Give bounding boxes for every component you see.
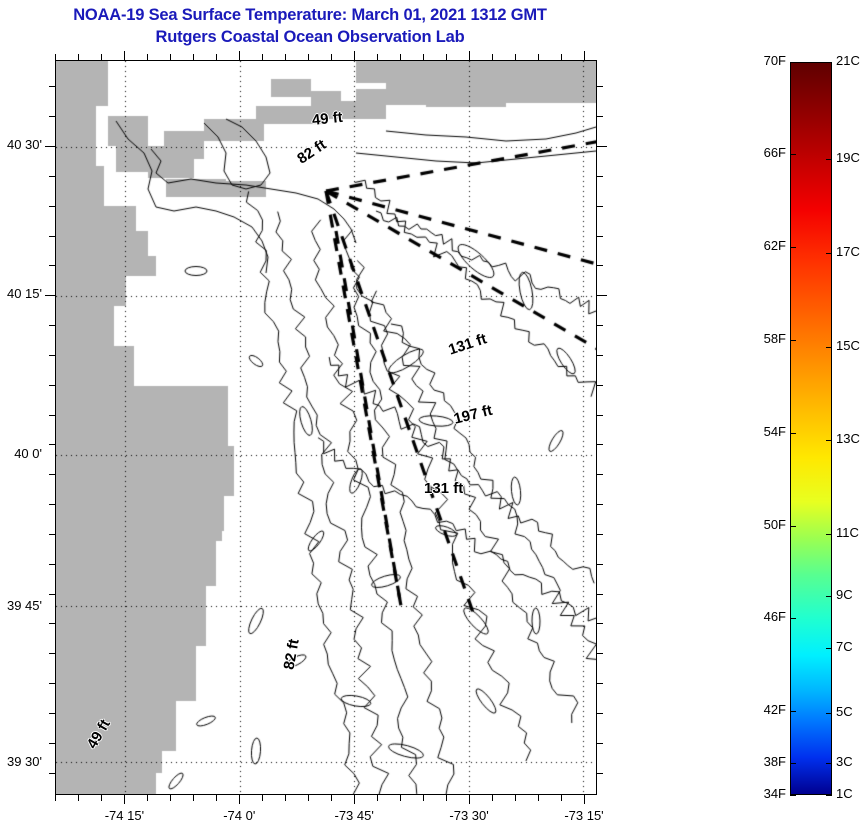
x-axis-label: -74 15' (84, 808, 164, 823)
x-axis-label: -73 45' (314, 808, 394, 823)
y-axis-tick (597, 534, 603, 535)
x-axis-tick (101, 795, 102, 801)
x-axis-tick (262, 795, 263, 801)
x-axis-tick (561, 795, 562, 801)
y-axis-tick (597, 623, 603, 624)
colorbar-tick-f (790, 340, 796, 341)
x-axis-tick (170, 795, 171, 801)
x-axis-tick (78, 795, 79, 801)
colorbar-tick-c (826, 253, 832, 254)
x-axis-tick (446, 54, 447, 60)
y-axis-tick (49, 415, 55, 416)
y-axis-tick (597, 295, 607, 296)
x-axis-tick (55, 795, 56, 801)
colorbar-label-celsius: 5C (836, 704, 853, 719)
y-axis-tick (45, 146, 55, 147)
colorbar-tick-f (790, 247, 796, 248)
colorbar-label-fahrenheit: 46F (742, 609, 786, 624)
colorbar-label-celsius: 13C (836, 431, 860, 446)
y-axis-tick (597, 683, 603, 684)
x-axis-tick (308, 54, 309, 60)
colorbar-label-fahrenheit: 38F (742, 754, 786, 769)
colorbar-tick-c (826, 648, 832, 649)
y-axis-tick (49, 713, 55, 714)
colorbar-label-celsius: 3C (836, 754, 853, 769)
x-axis-label: -74 0' (199, 808, 279, 823)
x-axis-tick (124, 795, 125, 804)
y-axis-tick (597, 743, 603, 744)
y-axis-tick (597, 265, 603, 266)
colorbar-tick-c (826, 763, 832, 764)
y-axis-label: 39 30' (0, 754, 42, 769)
colorbar-label-fahrenheit: 66F (742, 145, 786, 160)
y-axis-tick (49, 504, 55, 505)
x-axis-tick (354, 51, 355, 60)
y-axis-tick (49, 385, 55, 386)
x-axis-tick (423, 54, 424, 60)
y-axis-tick (597, 504, 603, 505)
colorbar-label-fahrenheit: 42F (742, 702, 786, 717)
colorbar-label-fahrenheit: 62F (742, 238, 786, 253)
x-axis-tick (124, 51, 125, 60)
y-axis-tick (49, 623, 55, 624)
x-axis-tick (331, 54, 332, 60)
x-axis-tick (492, 54, 493, 60)
y-axis-tick (597, 146, 607, 147)
y-axis-tick (597, 206, 603, 207)
x-axis-tick (285, 795, 286, 801)
x-axis-tick (285, 54, 286, 60)
x-axis-tick (584, 795, 585, 804)
y-axis-tick (597, 444, 603, 445)
colorbar-tick-f (790, 618, 796, 619)
x-axis-tick (262, 54, 263, 60)
y-axis-tick (49, 474, 55, 475)
colorbar-gradient (791, 63, 831, 794)
x-axis-label: -73 30' (429, 808, 509, 823)
y-axis-tick (49, 564, 55, 565)
y-axis-label: 40 0' (0, 446, 42, 461)
colorbar-label-celsius: 9C (836, 587, 853, 602)
colorbar-label-fahrenheit: 58F (742, 331, 786, 346)
x-axis-tick (193, 54, 194, 60)
colorbar-label-celsius: 21C (836, 53, 860, 68)
colorbar-label-fahrenheit: 54F (742, 424, 786, 439)
y-axis-tick (597, 176, 603, 177)
x-axis-tick (147, 54, 148, 60)
colorbar-label-celsius: 17C (836, 244, 860, 259)
x-axis-tick (377, 54, 378, 60)
colorbar-tick-f (790, 795, 796, 796)
y-axis-tick (49, 176, 55, 177)
x-axis-tick (584, 51, 585, 60)
y-axis-label: 39 45' (0, 598, 42, 613)
y-axis-tick (49, 355, 55, 356)
y-axis-tick (49, 444, 55, 445)
x-axis-tick (193, 795, 194, 801)
colorbar-label-fahrenheit: 34F (742, 786, 786, 801)
sst-map-raster (56, 61, 596, 794)
y-axis-tick (49, 594, 55, 595)
x-axis-tick (216, 795, 217, 801)
y-axis-tick (597, 325, 603, 326)
colorbar-label-celsius: 7C (836, 639, 853, 654)
x-axis-tick (538, 54, 539, 60)
y-axis-tick (45, 295, 55, 296)
x-axis-tick (147, 795, 148, 801)
y-axis-tick (49, 265, 55, 266)
colorbar-label-celsius: 15C (836, 338, 860, 353)
y-axis-tick (597, 713, 603, 714)
colorbar-label-fahrenheit: 50F (742, 517, 786, 532)
y-axis-tick (597, 86, 603, 87)
x-axis-tick (423, 795, 424, 801)
x-axis-tick (400, 795, 401, 801)
colorbar-tick-c (826, 713, 832, 714)
y-axis-tick (49, 743, 55, 744)
y-axis-tick (597, 355, 603, 356)
colorbar-tick-c (826, 159, 832, 160)
colorbar-label-celsius: 11C (836, 525, 859, 540)
x-axis-label: -73 15' (544, 808, 624, 823)
x-axis-tick (55, 54, 56, 60)
y-axis-label: 40 15' (0, 286, 42, 301)
depth-contour-label: 131 ft (424, 480, 463, 497)
y-axis-tick (597, 415, 603, 416)
x-axis-tick (446, 795, 447, 801)
colorbar-label-celsius: 1C (836, 786, 853, 801)
x-axis-tick (377, 795, 378, 801)
x-axis-tick (170, 54, 171, 60)
sst-colorbar[interactable] (790, 62, 832, 795)
x-axis-tick (400, 54, 401, 60)
x-axis-tick (492, 795, 493, 801)
y-axis-tick (49, 325, 55, 326)
x-axis-tick (239, 51, 240, 60)
x-axis-tick (239, 795, 240, 804)
y-axis-tick (597, 236, 603, 237)
x-axis-tick (561, 54, 562, 60)
y-axis-tick (597, 773, 603, 774)
y-axis-tick (597, 474, 603, 475)
colorbar-tick-c (826, 347, 832, 348)
colorbar-tick-c (826, 596, 832, 597)
colorbar-label-celsius: 19C (836, 150, 860, 165)
chart-title: NOAA-19 Sea Surface Temperature: March 0… (0, 4, 620, 48)
x-axis-tick (101, 54, 102, 60)
title-line-1: NOAA-19 Sea Surface Temperature: March 0… (0, 4, 620, 26)
x-axis-tick (469, 795, 470, 804)
y-axis-tick (49, 653, 55, 654)
y-axis-tick (49, 116, 55, 117)
colorbar-label-fahrenheit: 70F (742, 53, 786, 68)
y-axis-tick (49, 683, 55, 684)
y-axis-tick (49, 206, 55, 207)
x-axis-tick (354, 795, 355, 804)
colorbar-tick-c (826, 440, 832, 441)
colorbar-tick-c (826, 534, 832, 535)
colorbar-tick-f (790, 526, 796, 527)
colorbar-tick-f (790, 154, 796, 155)
colorbar-tick-f (790, 763, 796, 764)
x-axis-tick (469, 51, 470, 60)
title-line-2: Rutgers Coastal Ocean Observation Lab (0, 26, 620, 48)
x-axis-tick (515, 795, 516, 801)
x-axis-tick (331, 795, 332, 801)
sst-map[interactable] (55, 60, 597, 795)
y-axis-tick (597, 385, 603, 386)
y-axis-tick (597, 116, 603, 117)
y-axis-tick (49, 86, 55, 87)
colorbar-tick-f (790, 433, 796, 434)
colorbar-tick-c (826, 62, 832, 63)
x-axis-tick (538, 795, 539, 801)
y-axis-tick (49, 236, 55, 237)
y-axis-tick (597, 653, 603, 654)
y-axis-label: 40 30' (0, 137, 42, 152)
colorbar-tick-c (826, 795, 832, 796)
colorbar-tick-f (790, 62, 796, 63)
y-axis-tick (49, 773, 55, 774)
y-axis-tick (597, 594, 603, 595)
depth-contour-label: 49 ft (311, 109, 343, 129)
x-axis-tick (216, 54, 217, 60)
x-axis-tick (515, 54, 516, 60)
x-axis-tick (78, 54, 79, 60)
y-axis-tick (597, 564, 603, 565)
x-axis-tick (308, 795, 309, 801)
colorbar-tick-f (790, 711, 796, 712)
y-axis-tick (49, 534, 55, 535)
